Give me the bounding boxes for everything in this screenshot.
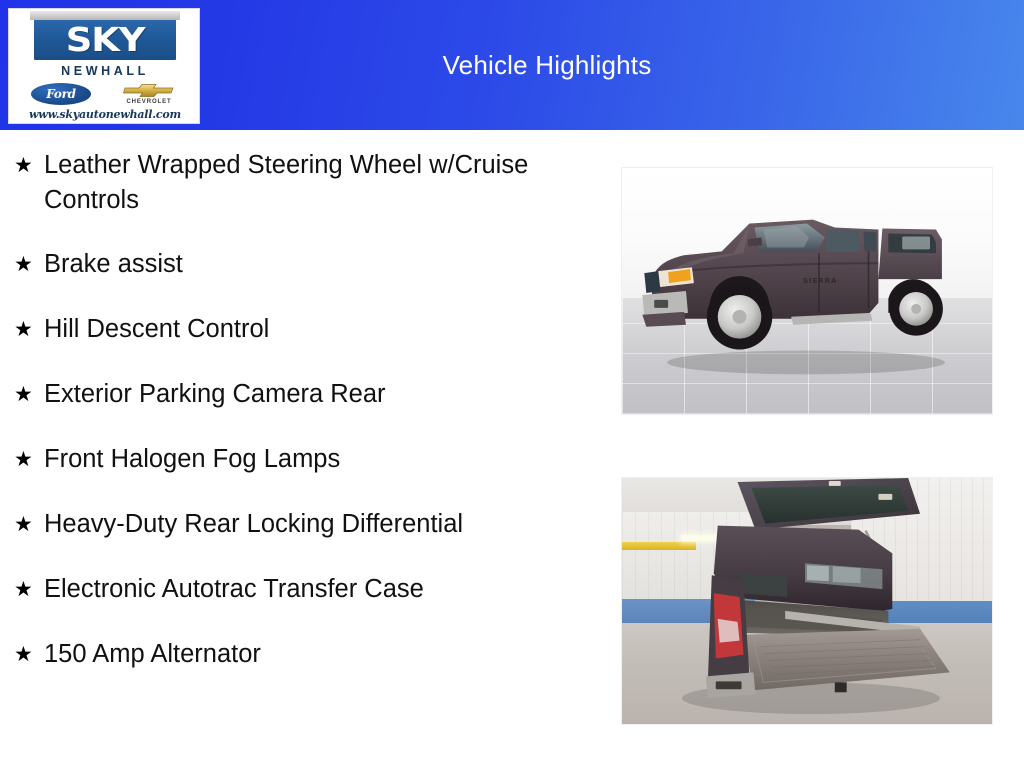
feature-label: 150 Amp Alternator: [44, 637, 600, 672]
feature-label: Heavy-Duty Rear Locking Differential: [44, 507, 600, 542]
feature-label: Front Halogen Fog Lamps: [44, 442, 600, 477]
logo-content: SKY NEWHALL Ford: [9, 9, 200, 124]
pickup-truck-side-illustration: SIERRA: [622, 168, 992, 414]
feature-label: Leather Wrapped Steering Wheel w/Cruise …: [44, 148, 600, 218]
list-item: ★ Brake assist: [0, 247, 600, 282]
star-bullet-icon: ★: [14, 312, 44, 347]
list-item: ★ 150 Amp Alternator: [0, 637, 600, 672]
feature-label: Electronic Autotrac Transfer Case: [44, 572, 600, 607]
svg-text:SIERRA: SIERRA: [803, 277, 837, 285]
sky-wordmark: SKY: [66, 19, 145, 56]
star-bullet-icon: ★: [14, 637, 44, 672]
feature-label: Brake assist: [44, 247, 600, 282]
star-bullet-icon: ★: [14, 572, 44, 607]
star-bullet-icon: ★: [14, 247, 44, 282]
dealership-website-url: www.skyautonewhall.com: [29, 108, 181, 121]
ford-logo: Ford: [30, 82, 92, 106]
list-item: ★ Exterior Parking Camera Rear: [0, 377, 600, 412]
feature-label: Hill Descent Control: [44, 312, 600, 347]
list-item: ★ Hill Descent Control: [0, 312, 600, 347]
feature-label: Exterior Parking Camera Rear: [44, 377, 600, 412]
sky-brand-plate: SKY: [34, 15, 176, 60]
brand-logo-row: Ford CHEVROLET: [17, 81, 193, 106]
chevrolet-logo: CHEVROLET: [118, 83, 180, 105]
chevrolet-bowtie-icon: [123, 83, 175, 98]
star-bullet-icon: ★: [14, 507, 44, 542]
list-item: ★ Front Halogen Fog Lamps: [0, 442, 600, 477]
star-bullet-icon: ★: [14, 377, 44, 412]
vehicle-photo-cargo-bed-tailgate-open[interactable]: [621, 477, 993, 725]
vehicle-photo-exterior-front-three-quarter[interactable]: SIERRA: [621, 167, 993, 415]
list-item: ★ Heavy-Duty Rear Locking Differential: [0, 507, 600, 542]
dealership-logo[interactable]: SKY NEWHALL Ford: [8, 8, 200, 124]
list-item: ★ Leather Wrapped Steering Wheel w/Cruis…: [0, 148, 600, 218]
pickup-rear-tailgate-illustration: [622, 478, 992, 724]
ford-wordmark: Ford: [46, 87, 75, 101]
newhall-wordmark: NEWHALL: [61, 64, 149, 78]
chevrolet-wordmark: CHEVROLET: [126, 99, 171, 105]
list-item: ★ Electronic Autotrac Transfer Case: [0, 572, 600, 607]
star-bullet-icon: ★: [14, 442, 44, 477]
vehicle-highlights-list: ★ Leather Wrapped Steering Wheel w/Cruis…: [0, 130, 600, 702]
star-bullet-icon: ★: [14, 148, 44, 183]
